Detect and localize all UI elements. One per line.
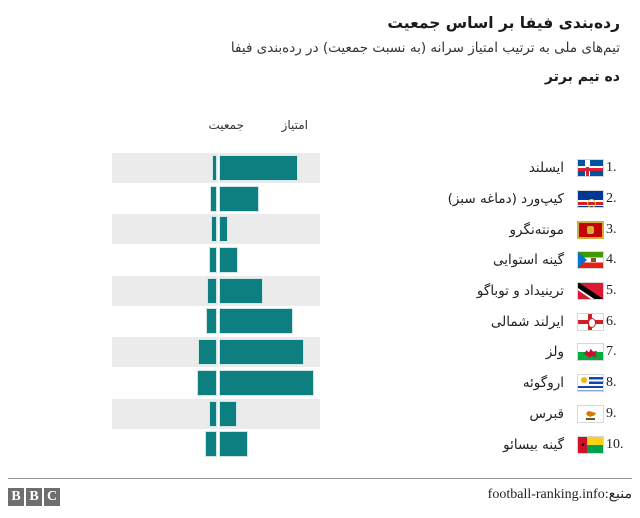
northern-ireland-flag	[577, 313, 604, 331]
population-bar	[206, 308, 217, 334]
list-item: 2.کیپ‌ورد (دماغه سبز)	[330, 184, 640, 215]
iceland-flag	[577, 159, 604, 177]
rank-number: 2.	[606, 191, 640, 207]
rank-number: 4.	[606, 252, 640, 268]
rank-number: 10.	[606, 437, 640, 453]
team-name: ایسلند	[330, 160, 568, 176]
team-name: کیپ‌ورد (دماغه سبز)	[330, 191, 568, 207]
centre-axis-line	[218, 368, 219, 399]
rank-number: 7.	[606, 344, 640, 360]
chart-page: رده‌بندی فیفا بر اساس جمعیت تیم‌های ملی …	[0, 0, 640, 518]
list-item: 9.قبرس	[330, 399, 640, 430]
team-list-rows: 1.ایسلند2.کیپ‌ورد (دماغه سبز)3.مونته‌نگر…	[330, 153, 640, 460]
rank-number: 8.	[606, 375, 640, 391]
axis-label-points: امتیاز	[282, 118, 308, 132]
population-bar	[212, 155, 217, 181]
list-item: 4.گینه استوایی	[330, 245, 640, 276]
rank-number: 5.	[606, 283, 640, 299]
page-subtitle: تیم‌های ملی به ترتیب امتیاز سرانه (به نس…	[20, 39, 620, 57]
axis-labels: امتیاز جمعیت	[100, 118, 330, 140]
points-bar	[219, 216, 228, 242]
centre-axis-line	[218, 276, 219, 307]
source-url: football-ranking.info	[488, 487, 605, 502]
bbc-logo: BBC	[8, 488, 60, 506]
team-name: قبرس	[330, 406, 568, 422]
points-bar	[219, 401, 237, 427]
team-name: اروگوئه	[330, 375, 568, 391]
list-spacer	[330, 118, 640, 153]
trinidad-tobago-flag	[577, 282, 604, 300]
team-name: گینه استوایی	[330, 252, 568, 268]
population-bar	[197, 370, 217, 396]
centre-axis-line	[218, 245, 219, 276]
list-item: 7.ولز	[330, 337, 640, 368]
points-bar	[219, 370, 314, 396]
points-bar	[219, 308, 293, 334]
points-bar	[219, 247, 238, 273]
list-item: 6.ایرلند شمالی	[330, 306, 640, 337]
chart-header: رده‌بندی فیفا بر اساس جمعیت تیم‌های ملی …	[20, 14, 620, 85]
bbc-logo-letter: C	[44, 488, 60, 506]
centre-axis-line	[218, 306, 219, 337]
centre-axis-line	[218, 214, 219, 245]
centre-axis-line	[218, 399, 219, 430]
section-label: ده تیم برتر	[20, 69, 620, 85]
points-bar	[219, 155, 298, 181]
population-bar	[209, 247, 217, 273]
uruguay-flag	[577, 374, 604, 392]
list-item: 1.ایسلند	[330, 153, 640, 184]
rank-number: 3.	[606, 222, 640, 238]
axis-label-population: جمعیت	[208, 118, 244, 132]
team-name: مونته‌نگرو	[330, 222, 568, 238]
population-bar	[198, 339, 217, 365]
population-bar	[205, 431, 217, 457]
bbc-logo-letter: B	[26, 488, 42, 506]
points-bar	[219, 278, 263, 304]
points-bar	[219, 339, 304, 365]
centre-axis-line	[218, 337, 219, 368]
montenegro-flag	[577, 221, 604, 239]
bbc-logo-letter: B	[8, 488, 24, 506]
list-item: 8.اروگوئه	[330, 368, 640, 399]
rank-number: 1.	[606, 160, 640, 176]
cape-verde-flag	[577, 190, 604, 208]
equatorial-guinea-flag	[577, 251, 604, 269]
team-name: ولز	[330, 344, 568, 360]
team-name: ایرلند شمالی	[330, 314, 568, 330]
centre-axis-line	[218, 429, 219, 460]
centre-axis-line	[218, 184, 219, 215]
rank-number: 9.	[606, 406, 640, 422]
guinea-bissau-flag	[577, 436, 604, 454]
team-name: گینه بیسائو	[330, 437, 568, 453]
population-bar	[207, 278, 217, 304]
team-name: ترینیداد و توباگو	[330, 283, 568, 299]
population-bar	[211, 216, 217, 242]
team-list: 1.ایسلند2.کیپ‌ورد (دماغه سبز)3.مونته‌نگر…	[330, 118, 640, 460]
points-bar	[219, 186, 259, 212]
chart-footer: BBC منبع:football-ranking.info	[8, 486, 632, 512]
population-bar	[209, 401, 217, 427]
page-title: رده‌بندی فیفا بر اساس جمعیت	[20, 14, 620, 33]
list-item: 10.گینه بیسائو	[330, 429, 640, 460]
list-item: 5.ترینیداد و توباگو	[330, 276, 640, 307]
rank-number: 6.	[606, 314, 640, 330]
list-item: 3.مونته‌نگرو	[330, 214, 640, 245]
footer-divider	[8, 478, 632, 479]
source-prefix: منبع:	[605, 487, 632, 502]
source-credit: منبع:football-ranking.info	[488, 486, 632, 503]
points-bar	[219, 431, 248, 457]
centre-axis-line	[218, 153, 219, 184]
wales-flag	[577, 343, 604, 361]
cyprus-flag	[577, 405, 604, 423]
population-bar	[210, 186, 217, 212]
